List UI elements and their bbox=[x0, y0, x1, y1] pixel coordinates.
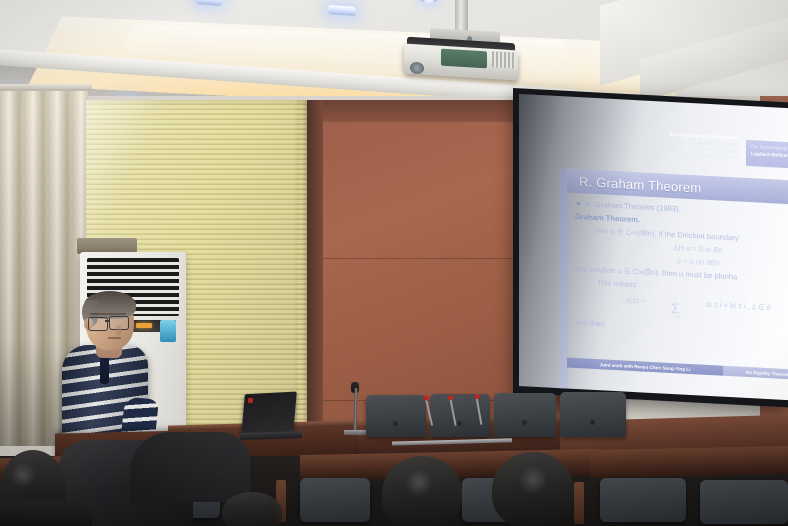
glasses-bridge bbox=[105, 320, 110, 322]
audience-head-sheen bbox=[404, 470, 434, 496]
speaker-brow bbox=[90, 313, 126, 315]
ac-display-led bbox=[136, 323, 152, 328]
summation-symbol: n Σ i = 0 bbox=[671, 296, 680, 319]
curtain-rod bbox=[0, 84, 92, 91]
projector-vent bbox=[492, 51, 516, 68]
audience-head bbox=[222, 492, 282, 526]
slide-navbox-item-1: Laplace-Beltrami Opera bbox=[751, 151, 788, 161]
audience-seat[interactable] bbox=[300, 478, 370, 522]
lecture-hall-photo: Introduction and Motivation Bounded Symm… bbox=[0, 0, 788, 526]
slide-navigation-box: C∞ hypoellipcity Laplace-Beltrami Opera bbox=[746, 140, 788, 170]
slide-footer-left: Joint work with Renyu Chen Song-Ying Li bbox=[567, 358, 723, 376]
projector-lens-icon bbox=[410, 62, 424, 75]
downlight-icon bbox=[328, 5, 356, 16]
audience-seat[interactable] bbox=[600, 478, 686, 522]
audience-shoulder bbox=[0, 500, 92, 526]
slide-eq3-lhs: u(z) = bbox=[626, 294, 646, 317]
speaker-nose bbox=[116, 325, 122, 335]
foreground-coat-secondary bbox=[130, 432, 250, 502]
projection-screen: Introduction and Motivation Bounded Symm… bbox=[519, 94, 788, 400]
slide-footer-right: On Rigidity Theorems f bbox=[723, 366, 788, 381]
audience-head-sheen bbox=[10, 462, 36, 488]
conference-chair[interactable] bbox=[560, 392, 626, 437]
slide-eq3-rhs: ai z i + bi z̄ i , z ∈ ∂ bbox=[706, 298, 771, 324]
slide-navigation: Introduction and Motivation Bounded Symm… bbox=[634, 130, 739, 162]
microphone-base bbox=[344, 430, 368, 435]
slide-title: R. Graham Theorem bbox=[567, 173, 701, 195]
ac-label-sticker bbox=[160, 320, 176, 342]
seat-armrest bbox=[574, 482, 584, 524]
slide-footer: Joint work with Renyu Chen Song-Ying Li … bbox=[567, 357, 788, 382]
sum-lower-limit: i = 0 bbox=[671, 315, 680, 320]
laptop-logo-icon bbox=[248, 398, 253, 403]
conference-chair[interactable] bbox=[430, 394, 490, 437]
slide-body: R. Graham Theorem (1983). Graham Theorem… bbox=[575, 197, 788, 342]
projector-circuit-detail bbox=[441, 49, 487, 69]
speaker-mouth bbox=[108, 337, 121, 339]
conference-chair[interactable] bbox=[494, 393, 556, 437]
audience-head-sheen bbox=[518, 466, 548, 494]
bench-row bbox=[590, 446, 788, 478]
presentation-slide: Introduction and Motivation Bounded Symm… bbox=[519, 94, 788, 400]
audience-seat[interactable] bbox=[700, 480, 788, 524]
brown-panel-shadow-edge bbox=[307, 100, 323, 432]
conference-chair[interactable] bbox=[366, 395, 426, 437]
